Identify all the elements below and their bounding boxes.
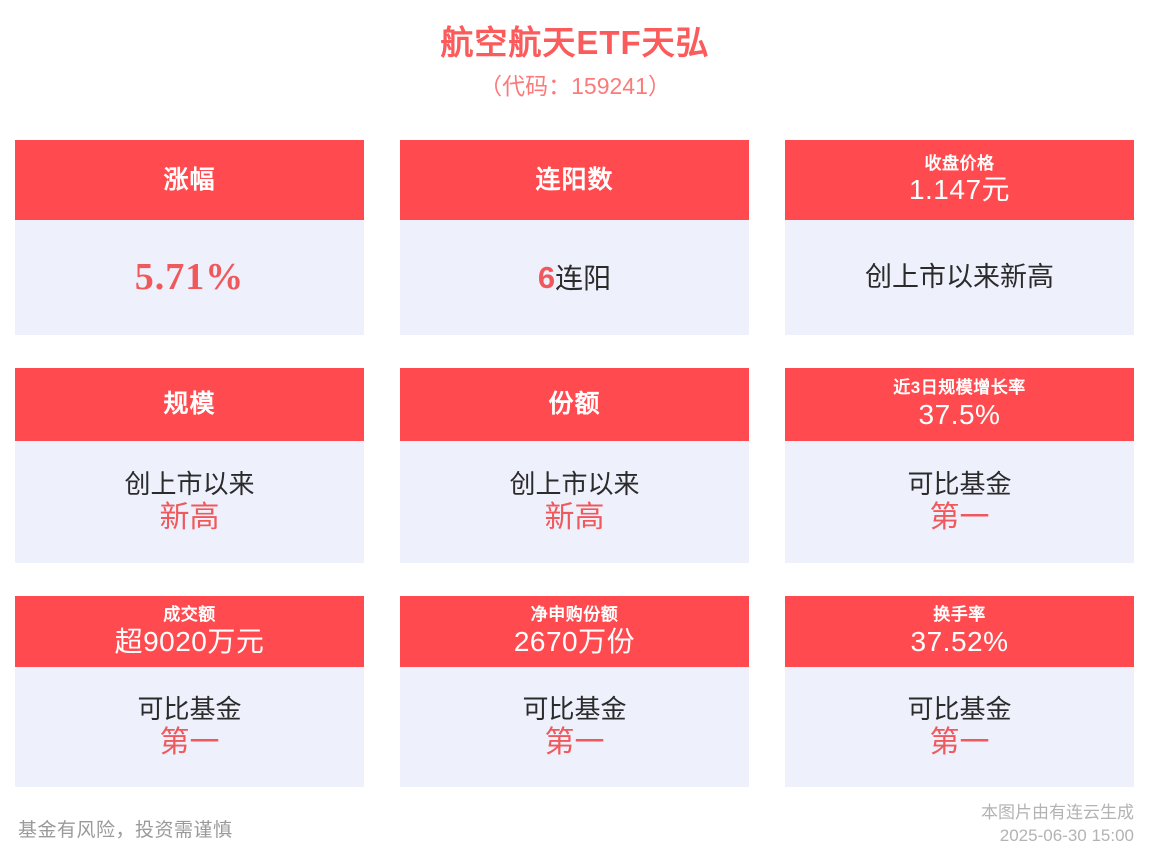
card-body-line-1: 可比基金 bbox=[137, 694, 241, 724]
card-body-value: 创上市以来新高 bbox=[865, 262, 1054, 293]
card-header-label: 换手率 bbox=[933, 605, 986, 625]
card-body-suffix: 连阳 bbox=[555, 263, 611, 294]
card-body: 创上市以来新高 bbox=[785, 220, 1134, 335]
card-row-1: 涨幅 5.71% 连阳数 6连阳 收盘价格 1.147元 创上市以来新高 bbox=[15, 140, 1135, 335]
card-body: 创上市以来 新高 bbox=[15, 441, 364, 563]
metric-card-shares[interactable]: 份额 创上市以来 新高 bbox=[400, 368, 749, 563]
metric-card-net-subscription[interactable]: 净申购份额 2670万份 可比基金 第一 bbox=[400, 596, 749, 787]
card-header: 近3日规模增长率 37.5% bbox=[785, 368, 1134, 441]
card-body-line-2: 第一 bbox=[160, 726, 220, 761]
page-title: 航空航天ETF天弘 bbox=[0, 22, 1150, 63]
card-header: 规模 bbox=[15, 368, 364, 441]
generation-info: 本图片由有连云生成 2025-06-30 15:00 bbox=[981, 802, 1134, 848]
card-header-label: 连阳数 bbox=[535, 166, 613, 195]
card-body-line-1: 创上市以来 bbox=[124, 469, 254, 499]
card-row-2: 规模 创上市以来 新高 份额 创上市以来 新高 近3日规模增长率 37.5% 可… bbox=[15, 368, 1135, 563]
card-header-label: 规模 bbox=[163, 390, 215, 419]
card-body-line-1: 可比基金 bbox=[907, 694, 1011, 724]
metric-card-closing-price[interactable]: 收盘价格 1.147元 创上市以来新高 bbox=[785, 140, 1134, 335]
metric-card-turnover-amount[interactable]: 成交额 超9020万元 可比基金 第一 bbox=[15, 596, 364, 787]
metric-card-consecutive-up-days[interactable]: 连阳数 6连阳 bbox=[400, 140, 749, 335]
card-body-line-2: 新高 bbox=[545, 501, 605, 536]
generation-timestamp: 2025-06-30 15:00 bbox=[981, 825, 1134, 848]
card-body-line-2: 新高 bbox=[160, 501, 220, 536]
metric-card-turnover-rate[interactable]: 换手率 37.52% 可比基金 第一 bbox=[785, 596, 1134, 787]
card-row-3: 成交额 超9020万元 可比基金 第一 净申购份额 2670万份 可比基金 第一… bbox=[15, 596, 1135, 787]
card-header-label: 份额 bbox=[548, 390, 600, 419]
card-header: 换手率 37.52% bbox=[785, 596, 1134, 667]
card-header: 收盘价格 1.147元 bbox=[785, 140, 1134, 220]
card-header-label: 收盘价格 bbox=[925, 154, 995, 174]
metric-card-change[interactable]: 涨幅 5.71% bbox=[15, 140, 364, 335]
card-header-label: 成交额 bbox=[163, 605, 216, 625]
card-body: 可比基金 第一 bbox=[15, 667, 364, 787]
card-body-value: 6连阳 bbox=[538, 260, 611, 296]
page-footer: 基金有风险，投资需谨慎 本图片由有连云生成 2025-06-30 15:00 bbox=[0, 790, 1150, 860]
card-body-line-2: 第一 bbox=[930, 501, 990, 536]
card-body: 6连阳 bbox=[400, 220, 749, 335]
card-header: 连阳数 bbox=[400, 140, 749, 220]
card-header: 成交额 超9020万元 bbox=[15, 596, 364, 667]
card-header-value: 1.147元 bbox=[909, 174, 1010, 206]
card-body-number: 6 bbox=[538, 260, 555, 295]
card-header-label: 涨幅 bbox=[163, 166, 215, 195]
card-body-line-2: 第一 bbox=[545, 726, 605, 761]
card-header-value: 超9020万元 bbox=[115, 626, 265, 658]
card-body-line-1: 创上市以来 bbox=[509, 469, 639, 499]
card-header: 净申购份额 2670万份 bbox=[400, 596, 749, 667]
card-header-label: 净申购份额 bbox=[531, 605, 619, 625]
page-header: 航空航天ETF天弘 （代码：159241） bbox=[0, 0, 1150, 101]
metric-card-3day-scale-growth[interactable]: 近3日规模增长率 37.5% 可比基金 第一 bbox=[785, 368, 1134, 563]
card-header-value: 2670万份 bbox=[514, 626, 635, 658]
card-body-value: 5.71% bbox=[135, 255, 245, 299]
card-body: 可比基金 第一 bbox=[785, 441, 1134, 563]
card-header: 份额 bbox=[400, 368, 749, 441]
metric-card-grid: 涨幅 5.71% 连阳数 6连阳 收盘价格 1.147元 创上市以来新高 bbox=[15, 140, 1135, 820]
fund-code-subtitle: （代码：159241） bbox=[0, 73, 1150, 101]
card-header-label: 近3日规模增长率 bbox=[893, 378, 1025, 398]
card-header-value: 37.52% bbox=[911, 626, 1009, 658]
card-body-line-2: 第一 bbox=[930, 726, 990, 761]
card-header-value: 37.5% bbox=[919, 399, 1001, 431]
card-body: 创上市以来 新高 bbox=[400, 441, 749, 563]
card-header: 涨幅 bbox=[15, 140, 364, 220]
card-body-line-1: 可比基金 bbox=[522, 694, 626, 724]
generation-source: 本图片由有连云生成 bbox=[981, 802, 1134, 825]
card-body-line-1: 可比基金 bbox=[907, 469, 1011, 499]
metric-card-scale[interactable]: 规模 创上市以来 新高 bbox=[15, 368, 364, 563]
card-body: 可比基金 第一 bbox=[400, 667, 749, 787]
card-body: 5.71% bbox=[15, 220, 364, 335]
risk-disclaimer: 基金有风险，投资需谨慎 bbox=[18, 815, 233, 842]
card-body: 可比基金 第一 bbox=[785, 667, 1134, 787]
